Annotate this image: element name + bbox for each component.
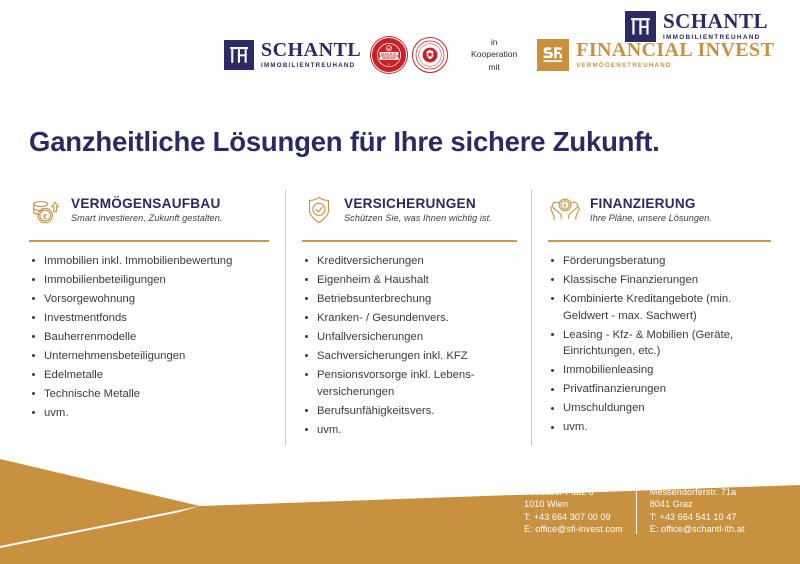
list-item: Unternehmensbeteiligungen [29,348,269,365]
column-tagline: Schützen Sie, was Ihnen wichtig ist. [344,213,492,223]
quality-seals: QUALITÄT MAKLER ▸▸ [371,37,448,73]
list-item: uvm. [29,405,269,422]
sfi-subtitle: VERMÖGENSTREUHAND [576,63,774,69]
column-title: VERSICHERUNGEN [344,196,492,211]
service-list-versicherungen: Kreditversicherungen Eigenheim & Haushal… [302,253,517,439]
qualitaetsmakler-seal-icon: QUALITÄT MAKLER ▸▸ [371,37,407,73]
ith-wordmark: SCHANTL IMMOBILIENTREUHAND [261,40,361,69]
list-item: Unfallversicherungen [302,329,517,346]
list-item: uvm. [302,422,517,439]
office-graz-phone[interactable]: T: +43 664 541 10 47 [650,511,745,524]
sfi-monogram-icon [537,39,569,71]
ith-schantl-logo-center: SCHANTL IMMOBILIENTREUHAND [224,40,361,70]
ith-monogram-icon [224,40,254,70]
list-item: Förderungsberatung [548,253,771,270]
list-item: Pensionsvorsorge inkl. Lebens-versicheru… [302,367,517,401]
service-list-finanzierung: Förderungsberatung Klassische Finanzieru… [548,253,771,437]
column-titles: VERSICHERUNGEN Schützen Sie, was Ihnen w… [344,196,492,224]
column-title: FINANZIERUNG [590,196,712,211]
ith-subtitle: IMMOBILIENTREUHAND [261,63,361,69]
office-wien-block: Office Wien: Passauer Platz 6 1010 Wien … [524,473,636,536]
office-wien-title: Office Wien: [524,473,623,486]
list-item: Kombinierte Kreditangebote (min. Geldwer… [548,291,771,325]
svg-text:MAKLER: MAKLER [383,56,397,60]
hands-holding-coin-icon: € [548,193,582,227]
column-divider [285,190,286,446]
column-header: € VERMÖGENSAUFBAU Smart investieren, Zuk… [29,188,269,232]
cooperation-line-1: in [465,36,523,48]
column-rule [29,240,269,242]
header-logo-bar: SCHANTL IMMOBILIENTREUHAND QUALITÄT MAKL… [0,0,800,100]
column-tagline: Ihre Pläne, unsere Lösungen. [590,213,712,223]
page-title: Ganzheitliche Lösungen für Ihre sichere … [29,126,660,158]
list-item: Vorsorgewohnung [29,291,269,308]
list-item: Investmentfonds [29,310,269,327]
coins-euro-growth-icon: € [29,193,63,227]
column-header: € FINANZIERUNG Ihre Pläne, unsere Lösung… [548,188,771,232]
list-item: Kranken- / Gesundenvers. [302,310,517,327]
list-item: Sachversicherungen inkl. KFZ [302,348,517,365]
list-item: Privatfinanzierungen [548,381,771,398]
column-header: VERSICHERUNGEN Schützen Sie, was Ihnen w… [302,188,517,232]
svg-text:€: € [43,211,47,220]
poster-page: SCHANTL IMMOBILIENTREUHAND QUALITÄT MAKL… [0,0,800,564]
column-versicherungen: VERSICHERUNGEN Schützen Sie, was Ihnen w… [285,188,531,441]
wko-immobilientreuhand-seal-icon [412,37,448,73]
list-item: uvm. [548,419,771,436]
office-graz-title: Office Graz: [650,473,745,486]
column-finanzierung: € FINANZIERUNG Ihre Pläne, unsere Lösung… [531,188,771,441]
ith-schantl-logo-topright: SCHANTL IMMOBILIENTREUHAND [625,11,768,42]
list-item: Bauherrenmodelle [29,329,269,346]
ith-name: SCHANTL [261,40,361,60]
service-list-vermoegensaufbau: Immobilien inkl. Immobilienbewertung Imm… [29,253,269,422]
cooperation-note: in Kooperation mit [465,36,523,73]
list-item: Berufsunfähigkeitsvers. [302,403,517,420]
list-item: Technische Metalle [29,386,269,403]
office-wien-street: Passauer Platz 6 [524,486,623,499]
office-wien-email[interactable]: E: office@sfi-invest.com [524,523,623,536]
office-wien-city: 1010 Wien [524,498,623,511]
list-item: Klassische Finanzierungen [548,272,771,289]
list-item: Immobilien inkl. Immobilienbewertung [29,253,269,270]
list-item: Betriebsunterbrechung [302,291,517,308]
column-rule [302,240,517,242]
ith-subtitle: IMMOBILIENTREUHAND [663,35,768,41]
service-columns: € VERMÖGENSAUFBAU Smart investieren, Zuk… [29,188,771,441]
column-titles: FINANZIERUNG Ihre Pläne, unsere Lösungen… [590,196,712,224]
ith-wordmark: SCHANTL IMMOBILIENTREUHAND [663,11,768,41]
footer-contact-blocks: Office Wien: Passauer Platz 6 1010 Wien … [524,473,744,536]
list-item: Edelmetalle [29,367,269,384]
list-item: Eigenheim & Haushalt [302,272,517,289]
list-item: Leasing - Kfz- & Mobilien (Geräte, Einri… [548,327,771,361]
office-wien-phone[interactable]: T: +43 664 307 00 09 [524,511,623,524]
office-graz-street: Messendorferstr. 71a [650,486,745,499]
ith-monogram-icon [625,11,656,42]
column-divider [531,190,532,446]
column-rule [548,240,771,242]
office-graz-block: Office Graz: Messendorferstr. 71a 8041 G… [637,473,745,536]
sfi-name: FINANCIAL INVEST [576,40,774,60]
shield-check-icon [302,193,336,227]
cooperation-line-3: mit [465,61,523,73]
column-titles: VERMÖGENSAUFBAU Smart investieren, Zukun… [71,196,222,224]
cooperation-line-2: Kooperation [465,48,523,60]
sfi-wordmark: FINANCIAL INVEST VERMÖGENSTREUHAND [576,40,774,69]
list-item: Umschuldungen [548,400,771,417]
sfi-financial-invest-logo: FINANCIAL INVEST VERMÖGENSTREUHAND [537,39,774,71]
column-tagline: Smart investieren, Zukunft gestalten. [71,213,222,223]
list-item: Kreditversicherungen [302,253,517,270]
column-vermoegensaufbau: € VERMÖGENSAUFBAU Smart investieren, Zuk… [29,188,285,441]
list-item: Immobilienbeteiligungen [29,272,269,289]
office-graz-email[interactable]: E: office@schantl-ith.at [650,523,745,536]
svg-text:▸▸: ▸▸ [388,62,390,65]
list-item: Immobilienleasing [548,362,771,379]
ith-name: SCHANTL [663,11,768,32]
office-graz-city: 8041 Graz [650,498,745,511]
column-title: VERMÖGENSAUFBAU [71,196,222,211]
